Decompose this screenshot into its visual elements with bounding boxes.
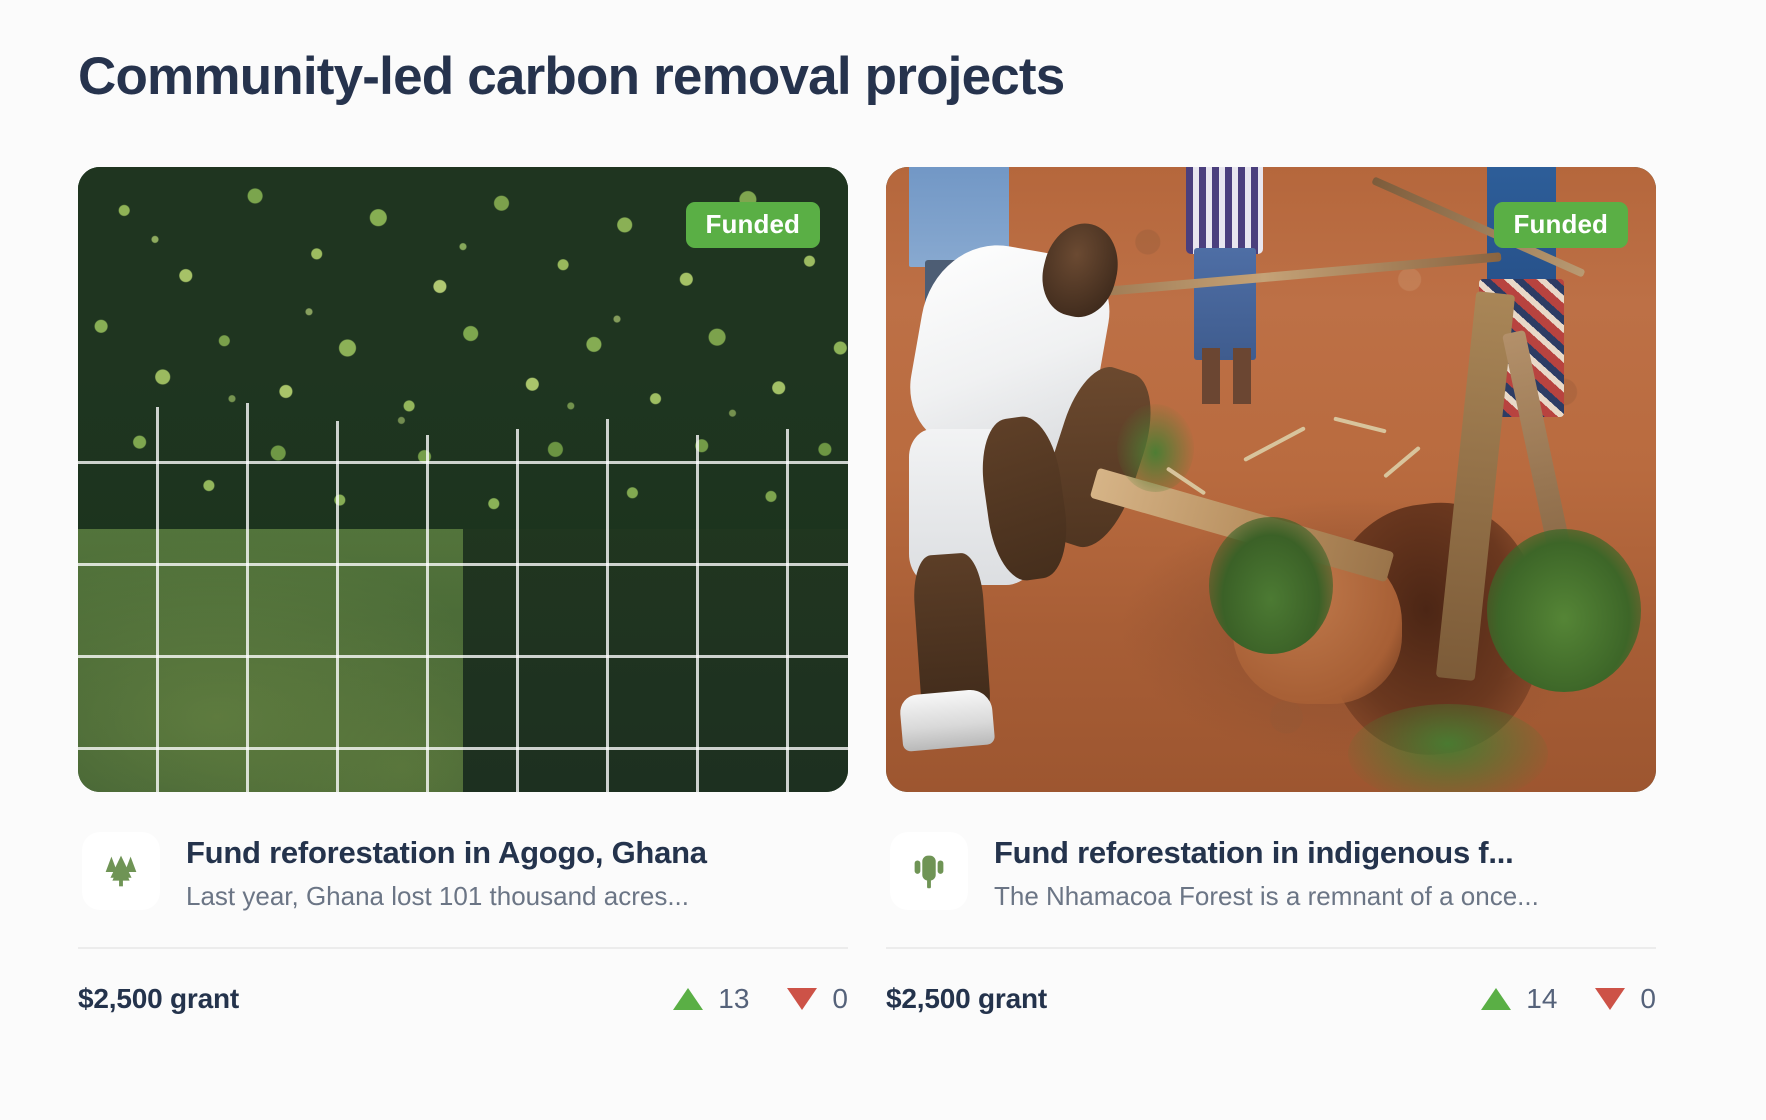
triangle-up-icon[interactable] (673, 988, 703, 1010)
subject-sneaker (899, 688, 996, 752)
project-card-agogo-ghana[interactable]: Funded Fund reforestation in Agogo, Ghan… (78, 167, 848, 1015)
card-subtitle: The Nhamacoa Forest is a remnant of a on… (994, 880, 1648, 913)
vegetation-right (1487, 529, 1641, 692)
card-title: Fund reforestation in indigenous f... (994, 834, 1648, 872)
grant-amount: $2,500 grant (78, 983, 239, 1015)
status-badge-funded: Funded (686, 202, 820, 248)
project-card-indigenous-forest[interactable]: Funded Fund reforestation in indigenous … (886, 167, 1656, 1015)
upvote-control[interactable]: 13 (673, 983, 749, 1015)
project-card-grid: Funded Fund reforestation in Agogo, Ghan… (78, 167, 1688, 1015)
card-text: Fund reforestation in indigenous f... Th… (994, 832, 1648, 913)
upvote-count: 14 (1526, 983, 1557, 1015)
vote-group: 14 0 (1481, 983, 1656, 1015)
grant-amount: $2,500 grant (886, 983, 1047, 1015)
upvote-count: 13 (718, 983, 749, 1015)
background-person-leg-right (1233, 348, 1251, 404)
triangle-down-icon[interactable] (787, 988, 817, 1010)
card-footer: $2,500 grant 13 0 (78, 947, 848, 1015)
status-badge-funded: Funded (1494, 202, 1628, 248)
downvote-control[interactable]: 0 (1595, 983, 1656, 1015)
background-person-denim-shorts (1194, 248, 1256, 361)
tree-planting-illustration (886, 167, 1656, 792)
downvote-count: 0 (832, 983, 848, 1015)
card-footer: $2,500 grant 14 0 (886, 947, 1656, 1015)
downvote-control[interactable]: 0 (787, 983, 848, 1015)
card-title: Fund reforestation in Agogo, Ghana (186, 834, 840, 872)
upvote-control[interactable]: 14 (1481, 983, 1557, 1015)
project-image-aerial-forest[interactable]: Funded (78, 167, 848, 792)
aerial-forest-illustration (78, 167, 848, 792)
canopy-tree-icon (890, 832, 968, 910)
triangle-up-icon[interactable] (1481, 988, 1511, 1010)
triangle-down-icon[interactable] (1595, 988, 1625, 1010)
card-text: Fund reforestation in Agogo, Ghana Last … (186, 832, 840, 913)
vote-group: 13 0 (673, 983, 848, 1015)
card-body: Fund reforestation in indigenous f... Th… (886, 792, 1656, 945)
card-subtitle: Last year, Ghana lost 101 thousand acres… (186, 880, 840, 913)
downvote-count: 0 (1640, 983, 1656, 1015)
vegetation-center (1209, 517, 1332, 655)
page-title: Community-led carbon removal projects (78, 46, 1688, 109)
background-person-striped-shirt (1186, 167, 1263, 255)
background-person-leg-left (1202, 348, 1220, 404)
field-grid-overlay (78, 167, 848, 792)
projects-page: Community-led carbon removal projects (0, 0, 1766, 1120)
project-image-tree-planting[interactable]: Funded (886, 167, 1656, 792)
card-body: Fund reforestation in Agogo, Ghana Last … (78, 792, 848, 945)
forest-trees-icon (82, 832, 160, 910)
